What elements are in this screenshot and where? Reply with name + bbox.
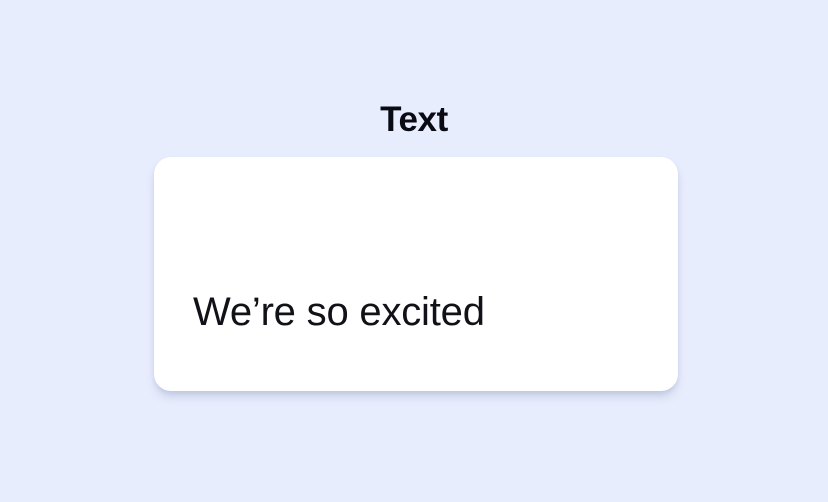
text-input-card[interactable]: We’re so excited to welcome you in our s… xyxy=(154,157,678,391)
text-line: We’re so excited xyxy=(193,287,644,337)
text-editor-screen: Text We’re so excited to welcome you in … xyxy=(0,0,828,502)
page-title: Text xyxy=(0,99,828,141)
text-content[interactable]: We’re so excited to welcome you in our s… xyxy=(193,187,644,391)
